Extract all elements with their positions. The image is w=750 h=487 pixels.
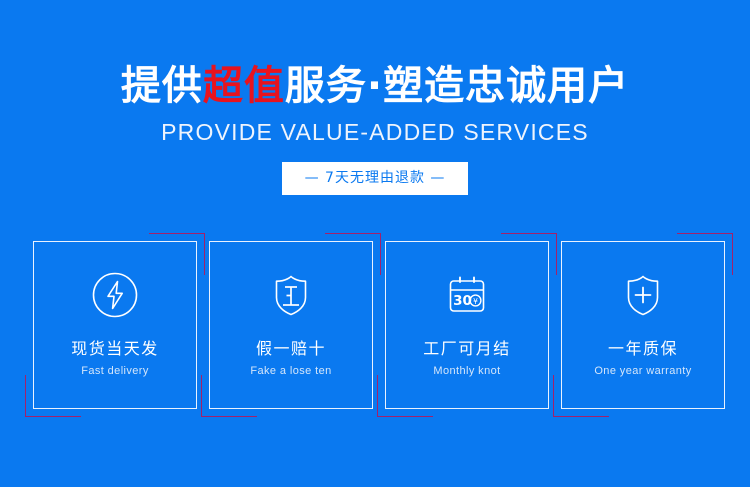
feature-card-list: 现货当天发 Fast delivery 假一赔十 Fake a lose ten (33, 241, 725, 409)
promo-banner: 提供超值服务·塑造忠诚用户 PROVIDE VALUE-ADDED SERVIC… (0, 0, 750, 487)
headline-text-accent: 超值 (203, 63, 285, 109)
feature-card-authenticity[interactable]: 假一赔十 Fake a lose ten (209, 241, 373, 409)
calendar-30-yuan-icon: 30 ¥ (440, 268, 494, 322)
shield-plus-icon (616, 268, 670, 322)
feature-card-monthly-settlement[interactable]: 30 ¥ 工厂可月结 Monthly knot (385, 241, 549, 409)
lightning-bolt-circle-icon (88, 268, 142, 322)
corner-accent-bottom-left (377, 375, 433, 417)
feature-card-warranty[interactable]: 一年质保 One year warranty (561, 241, 725, 409)
corner-accent-top-right (677, 233, 733, 275)
feature-card-title: 假一赔十 (256, 339, 326, 359)
feature-card-fast-delivery[interactable]: 现货当天发 Fast delivery (33, 241, 197, 409)
feature-card-subtitle: One year warranty (594, 364, 691, 378)
corner-accent-top-right (149, 233, 205, 275)
shield-zheng-icon (264, 268, 318, 322)
corner-accent-bottom-left (201, 375, 257, 417)
feature-card-subtitle: Fast delivery (81, 364, 149, 378)
calendar-day-number: 30 (453, 293, 472, 309)
feature-card-title: 现货当天发 (71, 339, 159, 359)
corner-accent-top-right (325, 233, 381, 275)
calendar-currency-symbol: ¥ (473, 297, 478, 306)
page-subtitle: PROVIDE VALUE-ADDED SERVICES (0, 118, 750, 146)
refund-badge-container: — 7天无理由退款 — (0, 162, 750, 195)
corner-accent-bottom-left (25, 375, 81, 417)
feature-card-title: 一年质保 (608, 339, 678, 359)
headline-text-lead: 提供 (121, 63, 203, 109)
feature-card-subtitle: Fake a lose ten (250, 364, 331, 378)
feature-card-title: 工厂可月结 (423, 339, 511, 359)
refund-policy-badge[interactable]: — 7天无理由退款 — (282, 162, 469, 195)
corner-accent-bottom-left (553, 375, 609, 417)
page-title: 提供超值服务·塑造忠诚用户 (0, 62, 750, 110)
headline-text-tail: 服务·塑造忠诚用户 (285, 63, 629, 109)
corner-accent-top-right (501, 233, 557, 275)
feature-card-subtitle: Monthly knot (433, 364, 500, 378)
